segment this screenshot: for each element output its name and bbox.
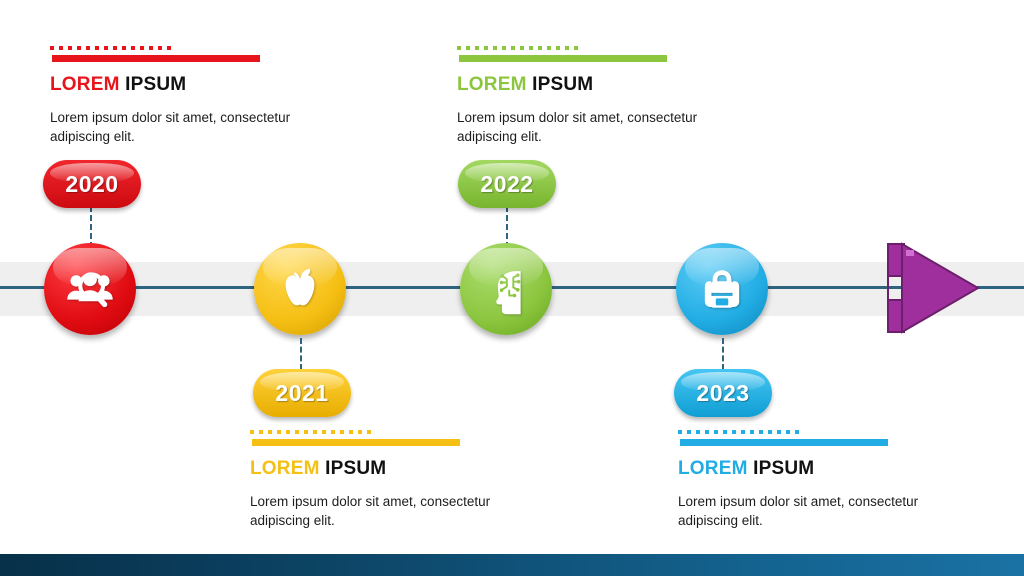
text-block-2021: LOREM IPSUM Lorem ipsum dolor sit amet, … bbox=[250, 428, 500, 530]
text-block-2022: LOREM IPSUM Lorem ipsum dolor sit amet, … bbox=[457, 44, 707, 146]
solid-rule-icon bbox=[680, 439, 888, 446]
dotted-rule-icon bbox=[250, 430, 374, 434]
heading-2020: LOREM IPSUM bbox=[50, 74, 300, 96]
dotted-rule-icon bbox=[678, 430, 802, 434]
node-2022[interactable] bbox=[460, 243, 552, 335]
year-badge-2023[interactable]: 2023 bbox=[674, 369, 772, 417]
dotted-rule-icon bbox=[457, 46, 581, 50]
text-block-2023: LOREM IPSUM Lorem ipsum dolor sit amet, … bbox=[678, 428, 928, 530]
text-block-2020: LOREM IPSUM Lorem ipsum dolor sit amet, … bbox=[50, 44, 300, 146]
year-label-2021: 2021 bbox=[275, 380, 328, 407]
heading-2023: LOREM IPSUM bbox=[678, 458, 928, 480]
apple-icon bbox=[275, 263, 325, 315]
body-text-2022: Lorem ipsum dolor sit amet, consectetur … bbox=[457, 108, 707, 146]
heading-accent-2020: LOREM bbox=[50, 74, 120, 95]
heading-accent-2021: LOREM bbox=[250, 458, 320, 479]
connector-2023 bbox=[722, 338, 724, 370]
year-badge-2020[interactable]: 2020 bbox=[43, 160, 141, 208]
timeline-end-arrow bbox=[884, 242, 980, 334]
heading-accent-2023: LOREM bbox=[678, 458, 748, 479]
backpack-icon bbox=[697, 263, 747, 315]
solid-rule-icon bbox=[459, 55, 667, 62]
year-label-2023: 2023 bbox=[696, 380, 749, 407]
decoration-2021 bbox=[250, 428, 500, 450]
heading-2022: LOREM IPSUM bbox=[457, 74, 707, 96]
dotted-rule-icon bbox=[50, 46, 174, 50]
node-2020[interactable] bbox=[44, 243, 136, 335]
heading-rest-2021: IPSUM bbox=[320, 458, 387, 479]
heading-accent-2022: LOREM bbox=[457, 74, 527, 95]
heading-rest-2020: IPSUM bbox=[120, 74, 187, 95]
body-text-2023: Lorem ipsum dolor sit amet, consectetur … bbox=[678, 492, 928, 530]
connector-2022 bbox=[506, 206, 508, 248]
year-badge-2021[interactable]: 2021 bbox=[253, 369, 351, 417]
decoration-2023 bbox=[678, 428, 928, 450]
node-2021[interactable] bbox=[254, 243, 346, 335]
decoration-2022 bbox=[457, 44, 707, 66]
connector-2020 bbox=[90, 206, 92, 248]
heading-rest-2023: IPSUM bbox=[748, 458, 815, 479]
people-search-icon bbox=[64, 263, 116, 315]
year-badge-2022[interactable]: 2022 bbox=[458, 160, 556, 208]
solid-rule-icon bbox=[252, 439, 460, 446]
decoration-2020 bbox=[50, 44, 300, 66]
brain-head-icon bbox=[479, 263, 533, 315]
node-2023[interactable] bbox=[676, 243, 768, 335]
year-label-2020: 2020 bbox=[65, 171, 118, 198]
body-text-2021: Lorem ipsum dolor sit amet, consectetur … bbox=[250, 492, 500, 530]
connector-2021 bbox=[300, 338, 302, 370]
body-text-2020: Lorem ipsum dolor sit amet, consectetur … bbox=[50, 108, 300, 146]
solid-rule-icon bbox=[52, 55, 260, 62]
footer-bar bbox=[0, 554, 1024, 576]
year-label-2022: 2022 bbox=[480, 171, 533, 198]
heading-2021: LOREM IPSUM bbox=[250, 458, 500, 480]
heading-rest-2022: IPSUM bbox=[527, 74, 594, 95]
